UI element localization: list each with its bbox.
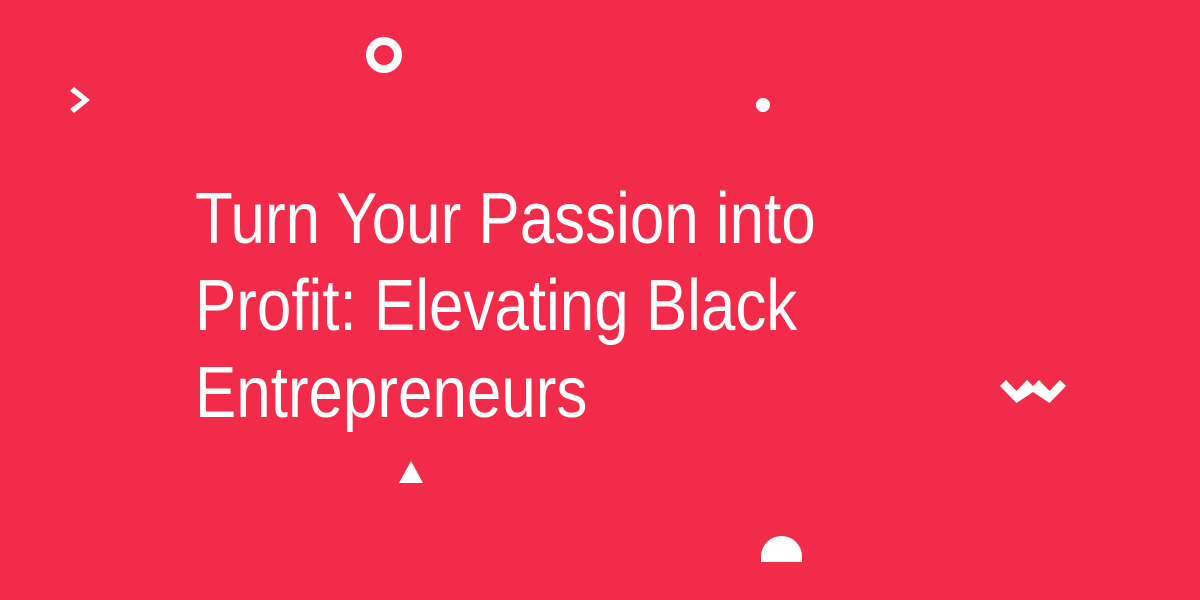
dome-icon xyxy=(761,536,802,562)
triangle-up-icon xyxy=(399,461,423,483)
chevron-right-icon xyxy=(68,84,100,116)
half-disc-icon xyxy=(1110,60,1144,94)
ring-icon xyxy=(366,37,402,73)
dot-icon xyxy=(756,98,770,112)
promo-banner: Turn Your Passion into Profit: Elevating… xyxy=(0,0,1200,600)
zigzag-icon xyxy=(1000,380,1066,404)
page-title: Turn Your Passion into Profit: Elevating… xyxy=(195,176,823,437)
